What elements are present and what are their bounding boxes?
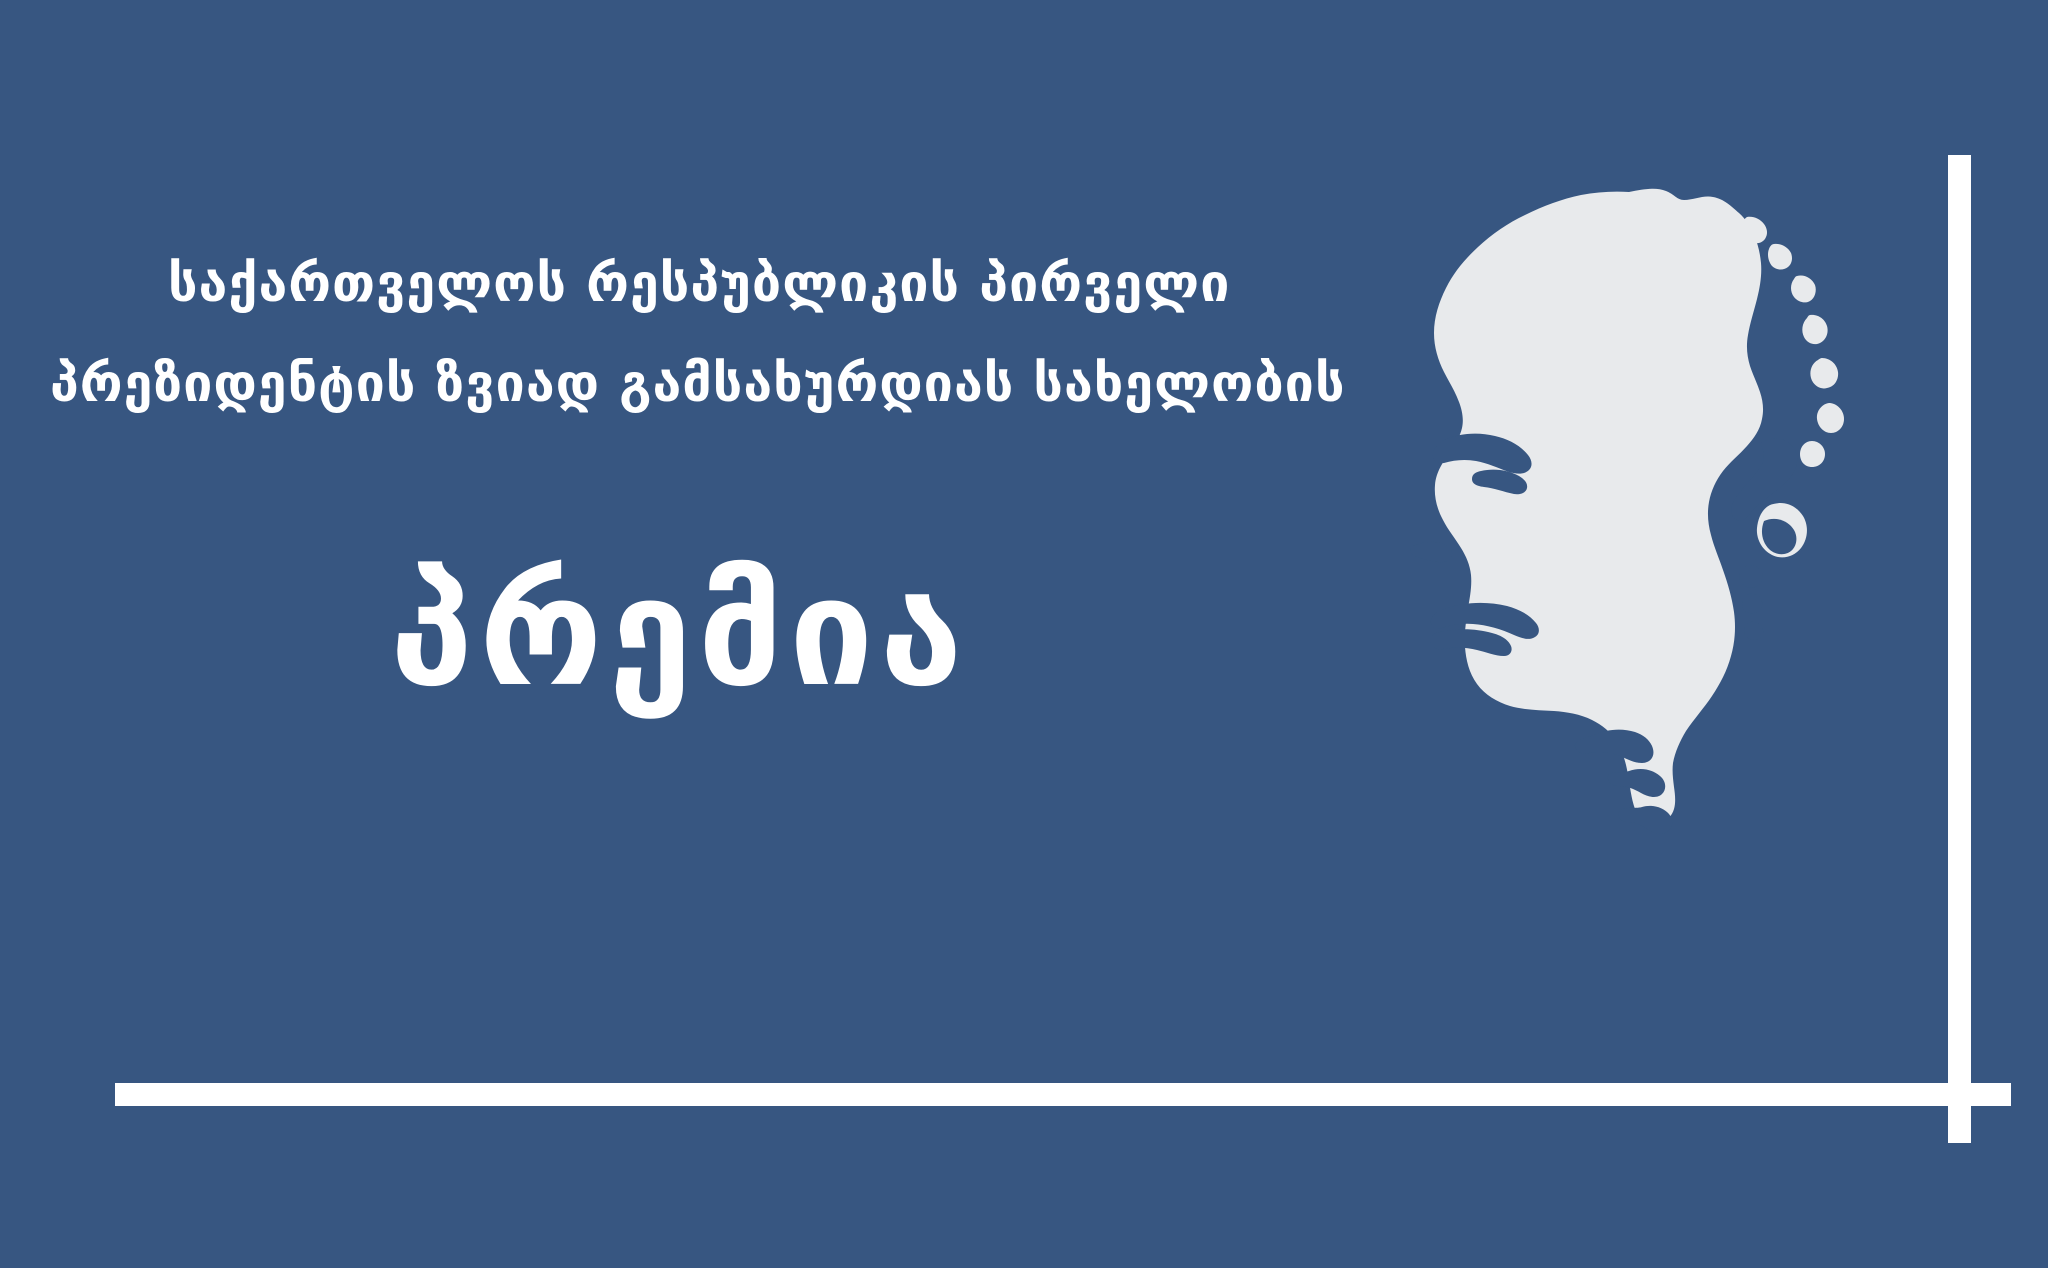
subtitle-line-2: პრეზიდენტის ზვიად გამსახურდიას სახელობის xyxy=(0,334,1400,434)
award-title: პრემია xyxy=(390,558,969,708)
poster-canvas: საქართველოს რესპუბლიკის პირველი პრეზიდენ… xyxy=(0,0,2048,1268)
portrait-silhouette xyxy=(1398,175,1938,975)
subtitle-line-1: საქართველოს რესპუბლიკის პირველი xyxy=(0,234,1400,334)
portrait-icon xyxy=(1398,175,1938,975)
horizontal-frame-rule xyxy=(115,1083,2011,1106)
headline-block: საქართველოს რესპუბლიკის პირველი პრეზიდენ… xyxy=(0,234,1400,434)
vertical-frame-rule xyxy=(1948,155,1971,1143)
